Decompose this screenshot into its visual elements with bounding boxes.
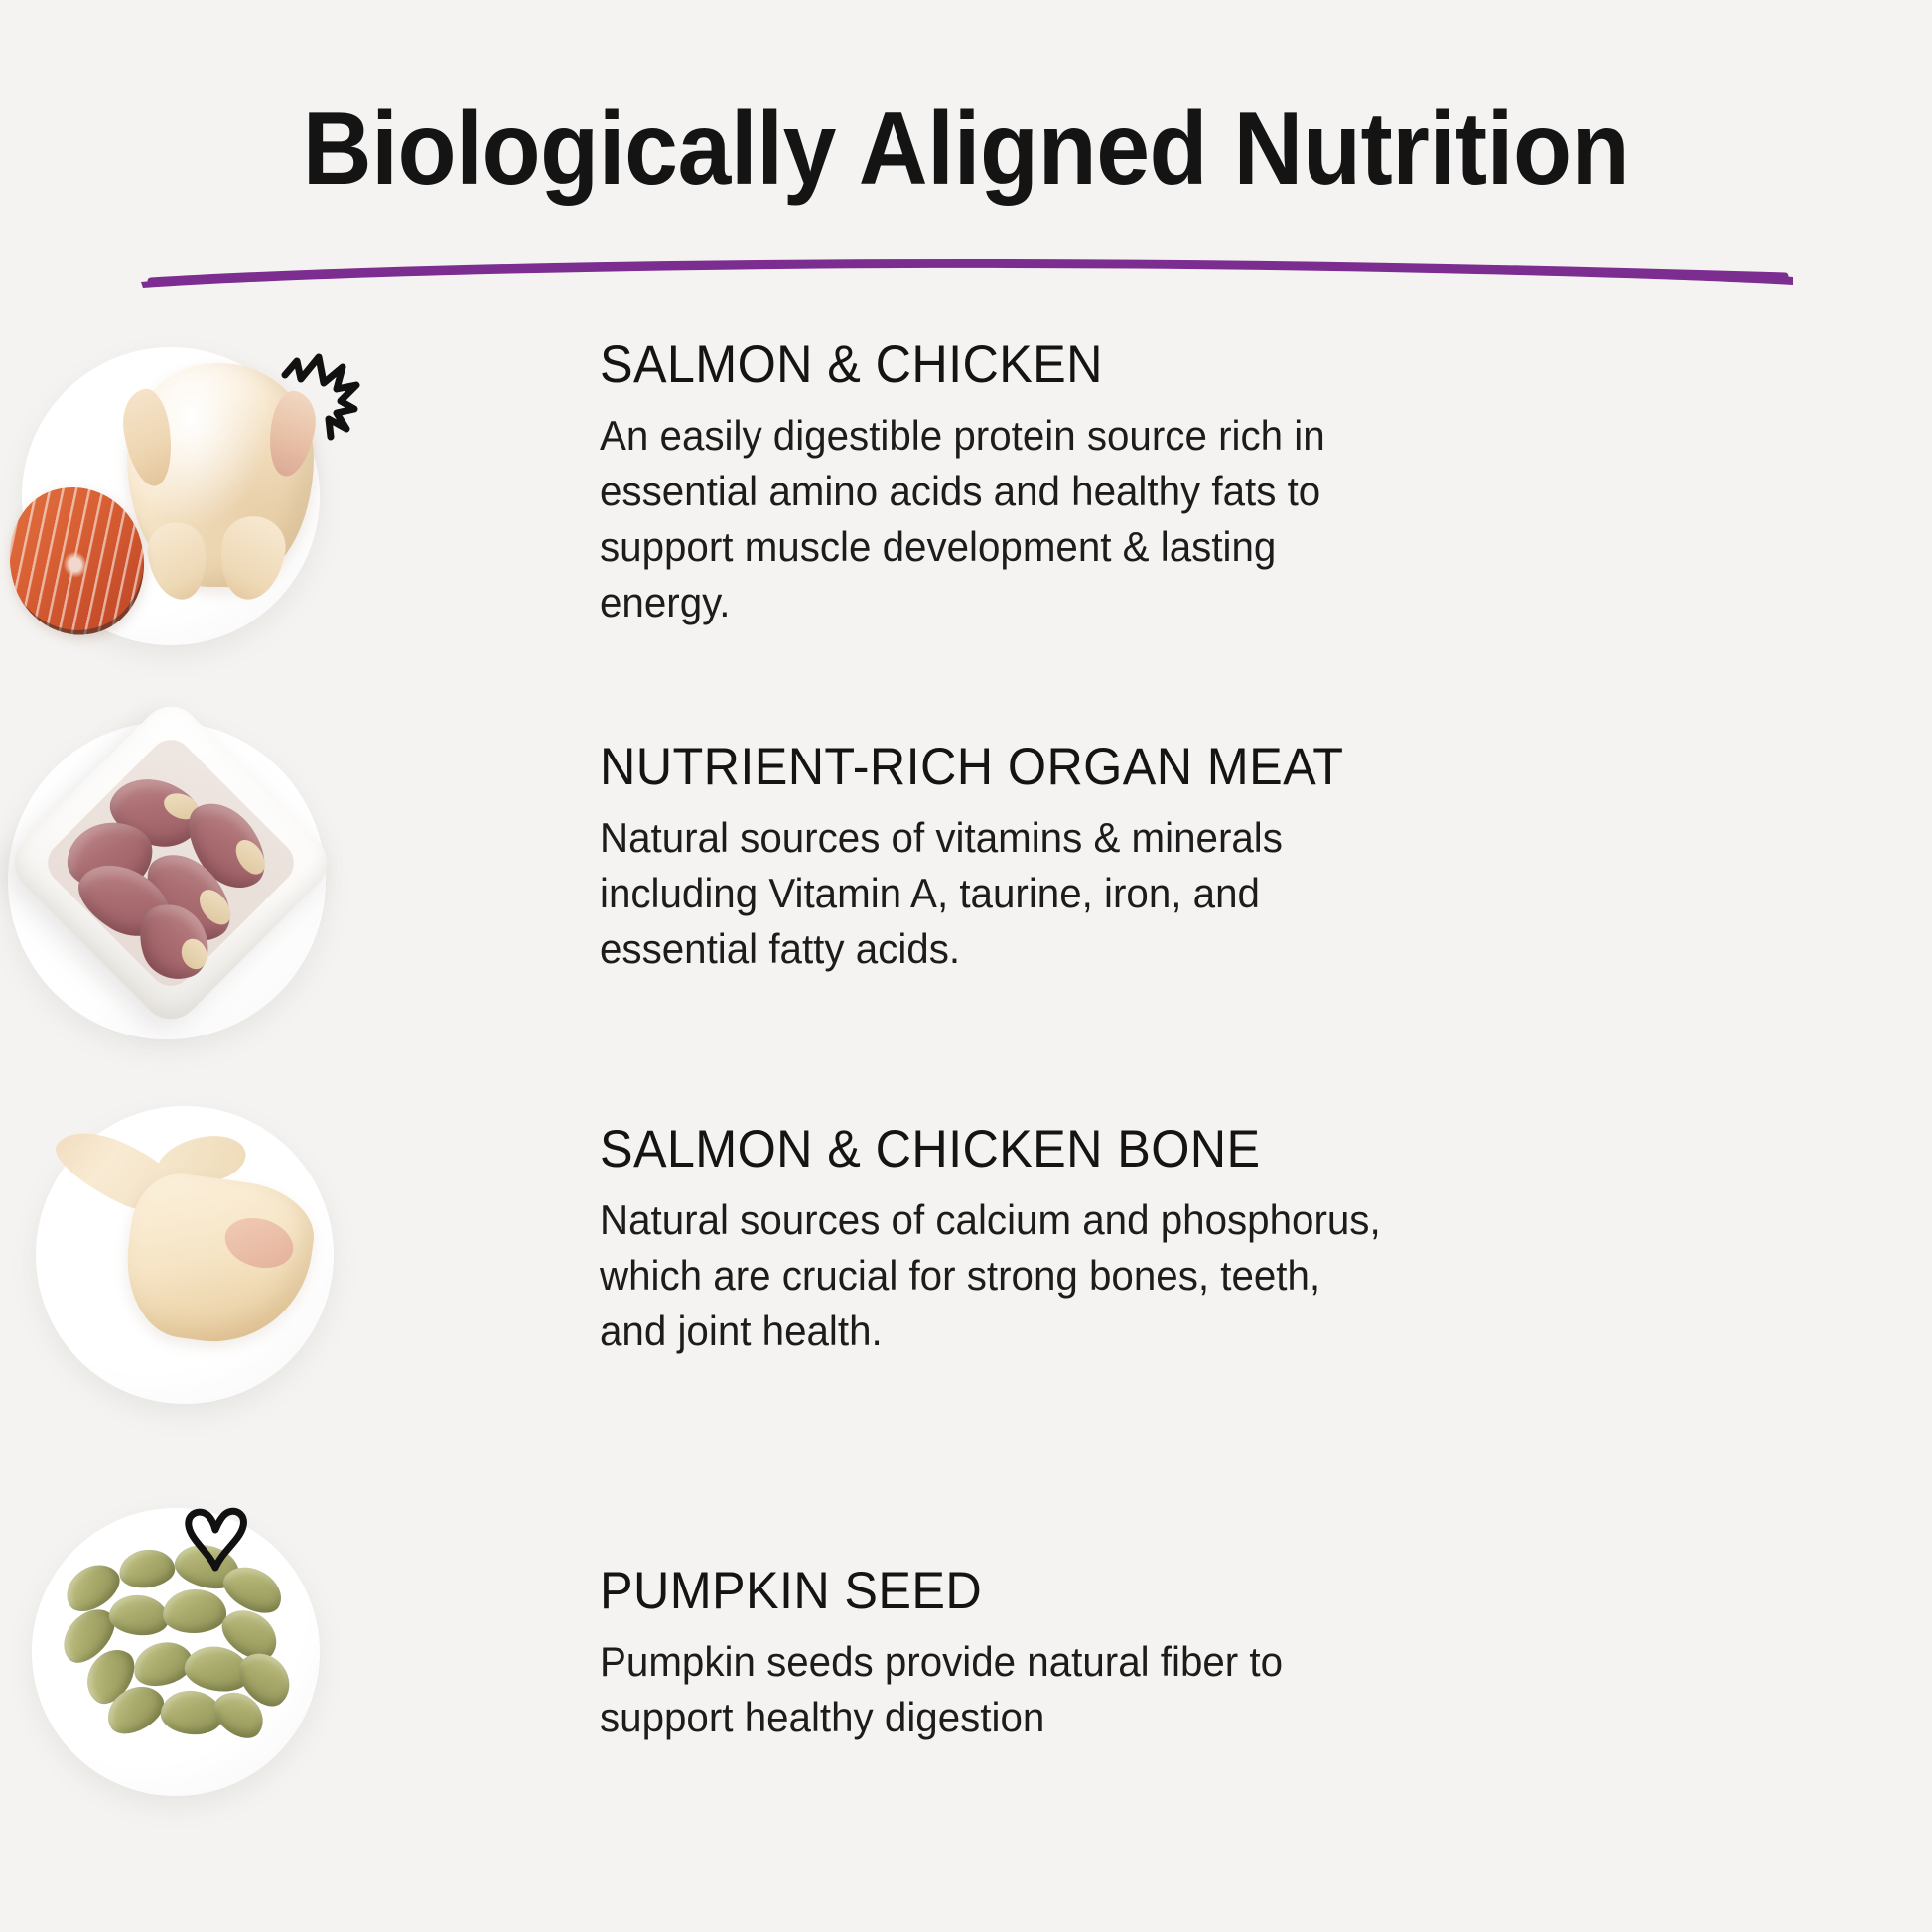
- salmon-chicken-image: [0, 328, 427, 710]
- item-description: Natural sources of vitamins & minerals i…: [600, 810, 1381, 977]
- list-item: PUMPKIN SEED Pumpkin seeds provide natur…: [0, 1474, 1932, 1857]
- item-title: PUMPKIN SEED: [600, 1562, 1373, 1620]
- chicken-bone-copy: SALMON & CHICKEN BONE Natural sources of…: [427, 1092, 1414, 1359]
- infographic-page: Biologically Aligned Nutrition: [0, 0, 1932, 1932]
- item-description: An easily digestible protein source rich…: [600, 408, 1381, 629]
- list-item: NUTRIENT-RICH ORGAN MEAT Natural sources…: [0, 710, 1932, 1092]
- item-title: NUTRIENT-RICH ORGAN MEAT: [600, 738, 1373, 796]
- organ-meat-copy: NUTRIENT-RICH ORGAN MEAT Natural sources…: [427, 710, 1414, 977]
- brush-stroke-underline-icon: [137, 256, 1797, 290]
- salmon-chicken-copy: SALMON & CHICKEN An easily digestible pr…: [427, 328, 1414, 630]
- pumpkin-seed-image: [0, 1474, 427, 1857]
- pumpkin-seed-pile: [58, 1540, 296, 1760]
- page-title: Biologically Aligned Nutrition: [68, 95, 1864, 204]
- item-description: Natural sources of calcium and phosphoru…: [600, 1192, 1381, 1359]
- header: Biologically Aligned Nutrition: [0, 95, 1932, 204]
- organ-meat-image: [0, 710, 427, 1092]
- item-title: SALMON & CHICKEN: [600, 336, 1373, 394]
- seed: [162, 1588, 226, 1634]
- item-description: Pumpkin seeds provide natural fiber to s…: [600, 1634, 1381, 1745]
- seed: [117, 1546, 178, 1590]
- seed: [107, 1592, 171, 1638]
- nutrition-item-list: SALMON & CHICKEN An easily digestible pr…: [0, 328, 1932, 1857]
- list-item: SALMON & CHICKEN BONE Natural sources of…: [0, 1092, 1932, 1474]
- chicken-wing-image: [0, 1092, 427, 1474]
- item-title: SALMON & CHICKEN BONE: [600, 1120, 1373, 1178]
- list-item: SALMON & CHICKEN An easily digestible pr…: [0, 328, 1932, 710]
- pumpkin-seed-copy: PUMPKIN SEED Pumpkin seeds provide natur…: [427, 1474, 1414, 1745]
